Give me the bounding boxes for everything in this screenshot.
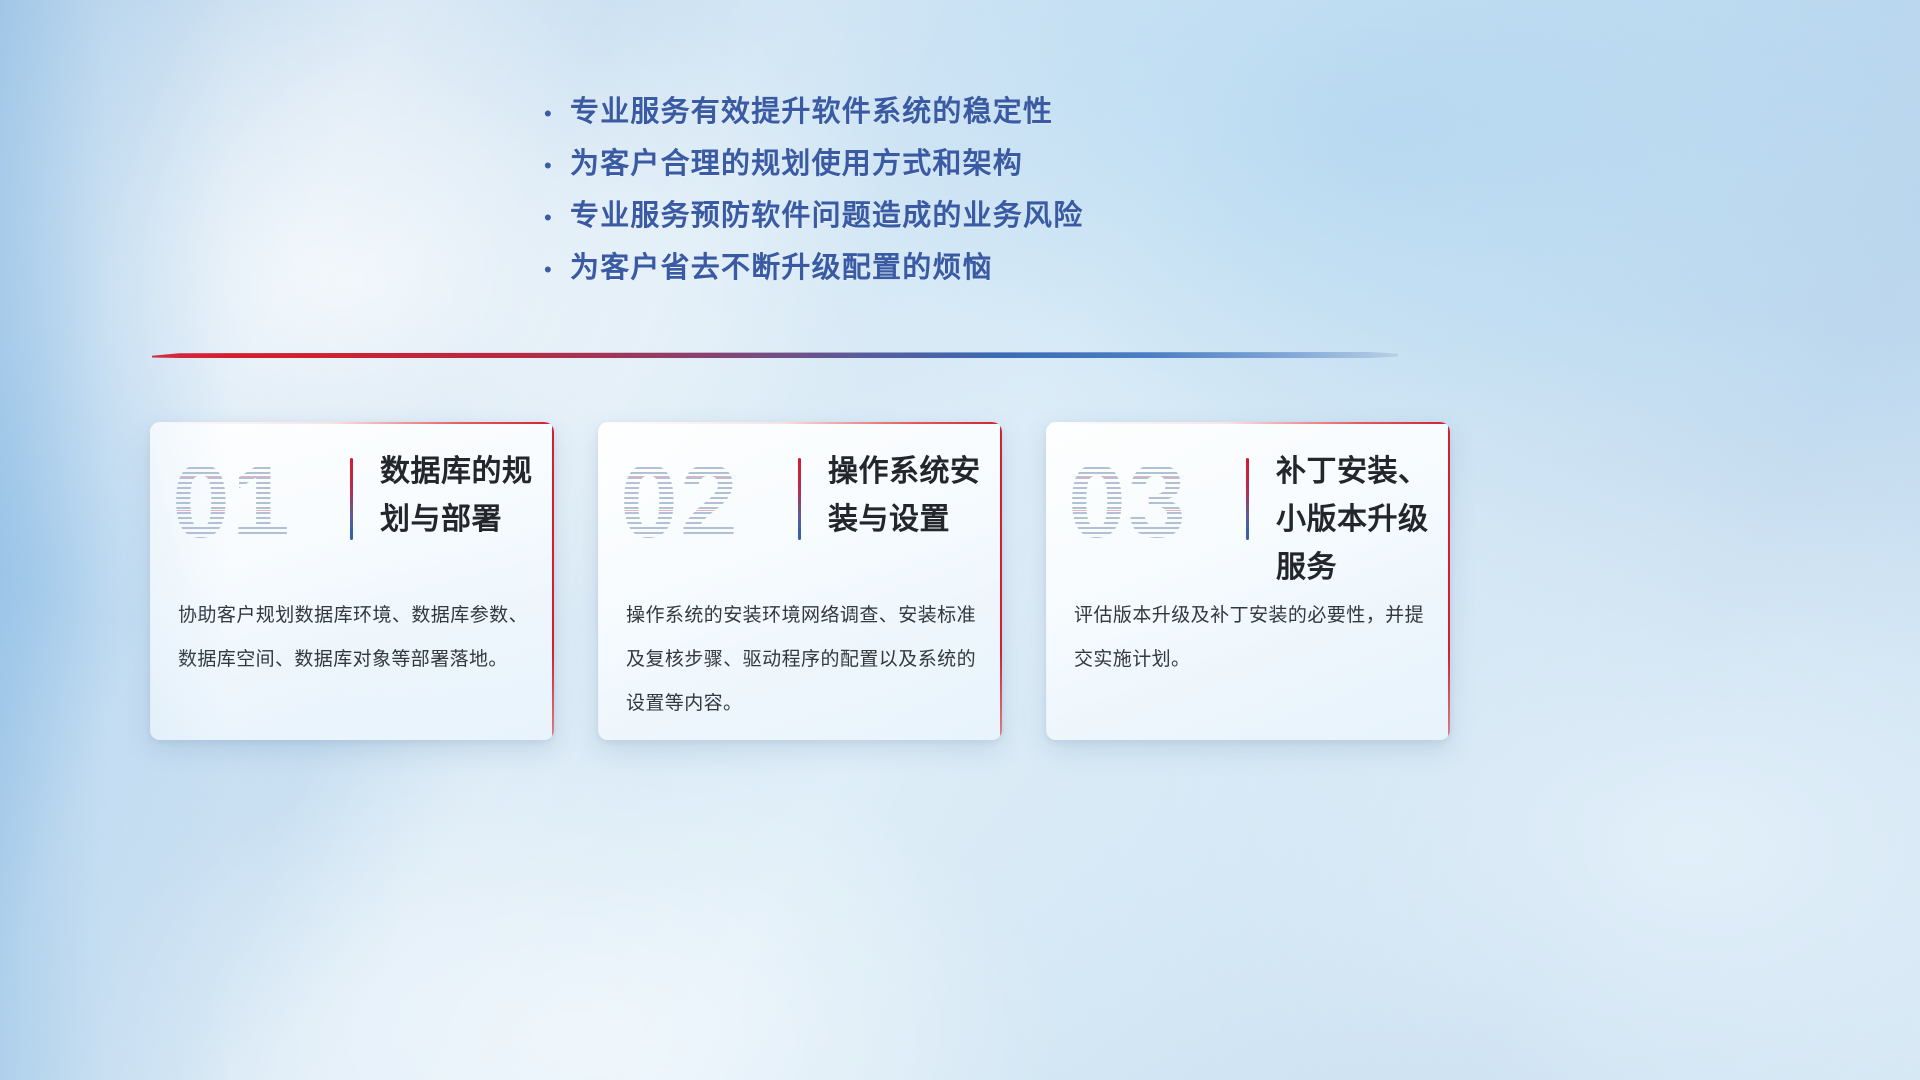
list-item: • 为客户省去不断升级配置的烦恼 <box>540 244 1240 296</box>
divider-line-gradient <box>152 352 1398 358</box>
card-divider-bar <box>798 458 801 540</box>
section-divider <box>152 349 1398 363</box>
card-title: 操作系统安装与设置 <box>828 448 988 544</box>
card-title: 数据库的规划与部署 <box>380 448 540 544</box>
card-description: 评估版本升级及补丁安装的必要性，并提交实施计划。 <box>1074 594 1424 682</box>
service-card-group: 01 01 数据库的规划与部署 协助客户规划数据库环境、数据库参数、数据库空间、… <box>150 422 1770 742</box>
card-title: 补丁安装、小版本升级服务 <box>1276 448 1436 592</box>
card-description: 协助客户规划数据库环境、数据库参数、数据库空间、数据库对象等部署落地。 <box>178 594 528 682</box>
card-watermark-number: 01 <box>172 442 352 562</box>
card-divider-bar <box>1246 458 1249 540</box>
list-item: • 专业服务有效提升软件系统的稳定性 <box>540 88 1240 140</box>
card-header: 03 03 补丁安装、小版本升级服务 <box>1046 422 1450 580</box>
card-header: 01 01 数据库的规划与部署 <box>150 422 554 580</box>
bullet-dot-icon: • <box>540 259 570 281</box>
bullet-dot-icon: • <box>540 103 570 125</box>
card-header: 02 02 操作系统安装与设置 <box>598 422 1002 580</box>
bullet-text-2: 为客户合理的规划使用方式和架构 <box>570 140 1023 182</box>
service-card-03[interactable]: 03 03 补丁安装、小版本升级服务 评估版本升级及补丁安装的必要性，并提交实施… <box>1046 422 1450 740</box>
bullet-text-3: 专业服务预防软件问题造成的业务风险 <box>570 192 1083 234</box>
bullet-dot-icon: • <box>540 207 570 229</box>
service-card-01[interactable]: 01 01 数据库的规划与部署 协助客户规划数据库环境、数据库参数、数据库空间、… <box>150 422 554 740</box>
bullet-text-1: 专业服务有效提升软件系统的稳定性 <box>570 88 1053 130</box>
list-item: • 专业服务预防软件问题造成的业务风险 <box>540 192 1240 244</box>
card-watermark-number: 02 <box>620 442 800 562</box>
card-divider-bar <box>350 458 353 540</box>
list-item: • 为客户合理的规划使用方式和架构 <box>540 140 1240 192</box>
bullet-dot-icon: • <box>540 155 570 177</box>
bullet-text-4: 为客户省去不断升级配置的烦恼 <box>570 244 993 286</box>
service-card-02[interactable]: 02 02 操作系统安装与设置 操作系统的安装环境网络调查、安装标准及复核步骤、… <box>598 422 1002 740</box>
slide-canvas: • 专业服务有效提升软件系统的稳定性 • 为客户合理的规划使用方式和架构 • 专… <box>0 0 1920 1080</box>
benefits-bullet-list: • 专业服务有效提升软件系统的稳定性 • 为客户合理的规划使用方式和架构 • 专… <box>540 88 1240 296</box>
card-watermark-number: 03 <box>1068 442 1248 562</box>
card-description: 操作系统的安装环境网络调查、安装标准及复核步骤、驱动程序的配置以及系统的设置等内… <box>626 594 976 726</box>
